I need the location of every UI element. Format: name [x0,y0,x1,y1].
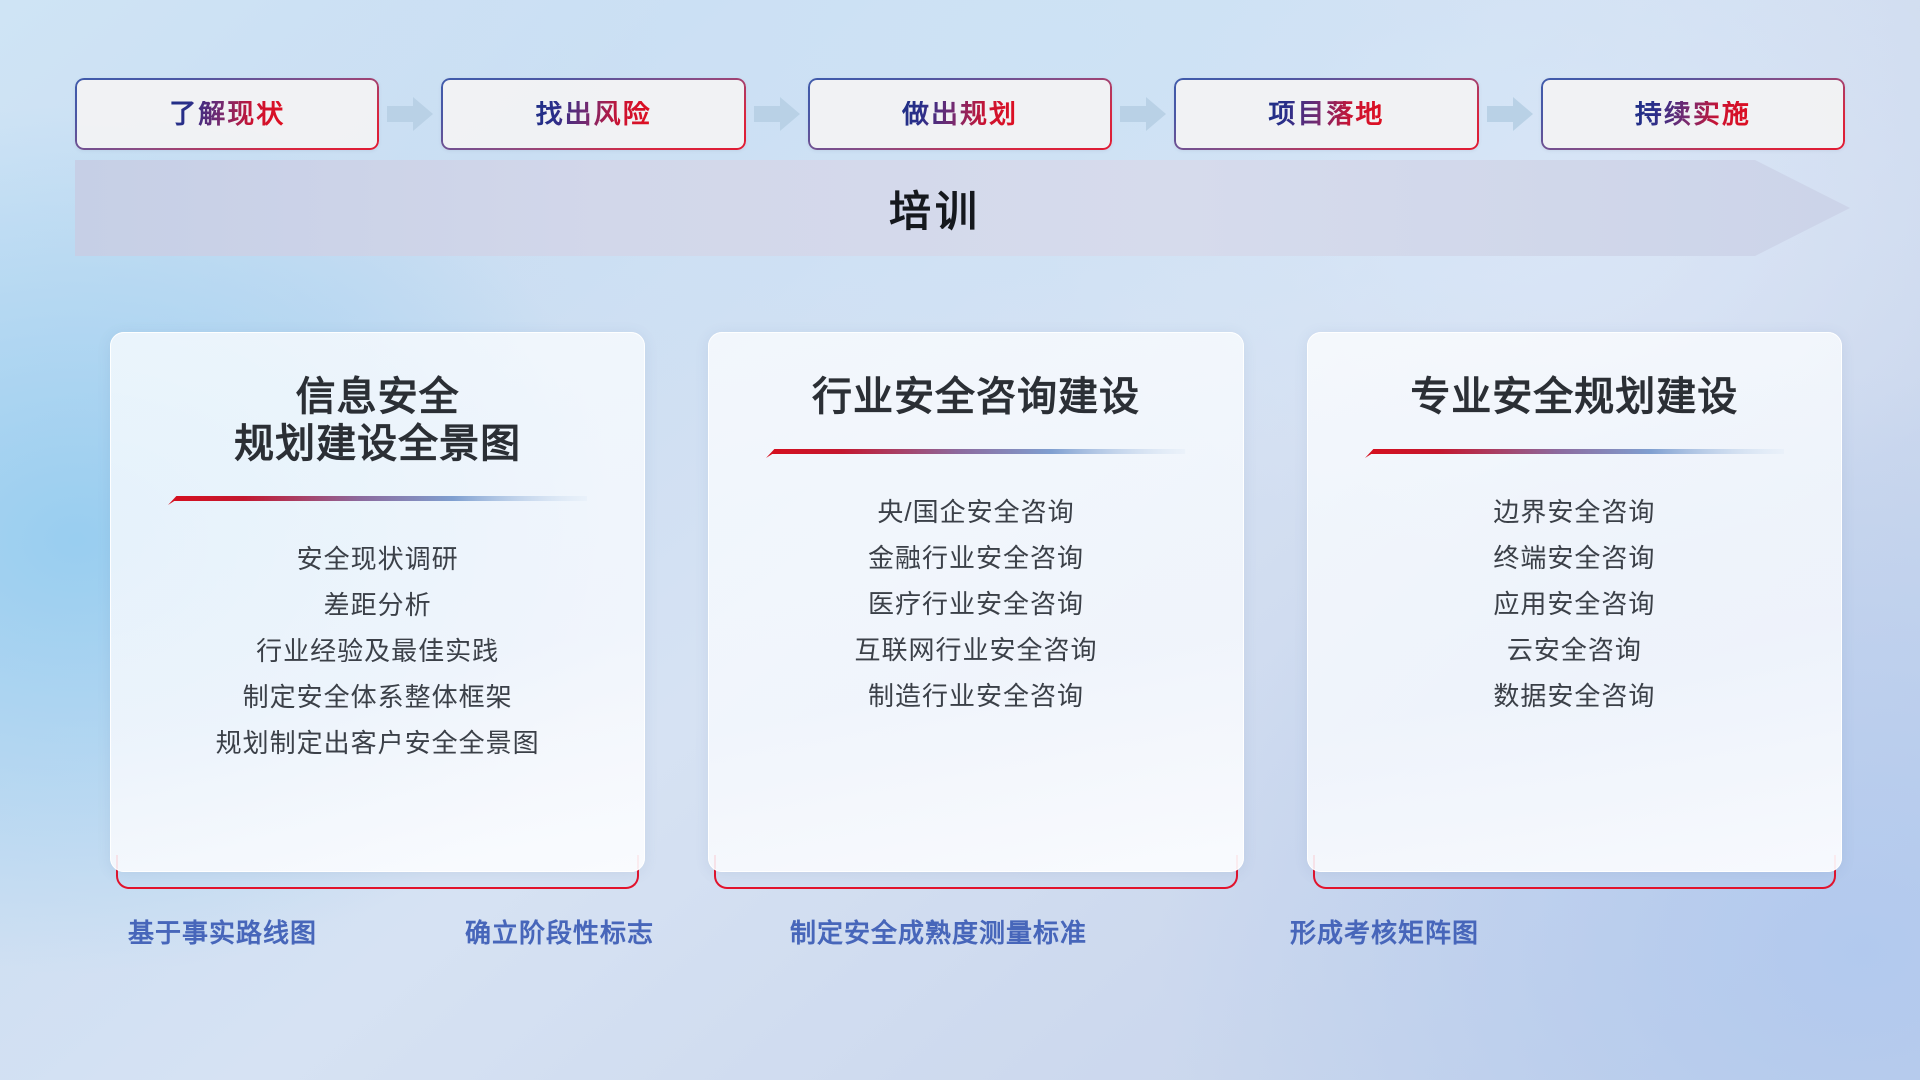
list-item: 规划制定出客户安全全景图 [216,720,540,766]
process-steps: 了解现状 找出风险 做出规划 项目落地 [75,78,1845,150]
list-item: 差距分析 [216,582,540,628]
training-banner: 培训 [75,160,1850,256]
list-item: 边界安全咨询 [1493,489,1655,535]
card-group: 信息安全 规划建设全景图 安全现状调研 差距分析 行业经验及最佳实践 [110,332,1842,872]
step-box-5[interactable]: 持续实施 [1541,78,1845,150]
list-item: 制定安全体系整体框架 [216,674,540,720]
gradient-rule-icon [168,494,587,506]
list-item: 金融行业安全咨询 [854,535,1097,581]
gradient-rule-icon [1365,447,1784,459]
arrow-right-icon-4 [1479,91,1541,137]
list-item: 制造行业安全咨询 [854,673,1097,719]
card-red-foot [714,855,1237,889]
card-item-list: 央/国企安全咨询 金融行业安全咨询 医疗行业安全咨询 互联网行业安全咨询 制造行… [854,489,1097,719]
list-item: 云安全咨询 [1493,627,1655,673]
banner-title: 培训 [75,160,1850,256]
gradient-rule-icon [766,447,1185,459]
slide-canvas: 了解现状 找出风险 做出规划 项目落地 [0,0,1920,1080]
footer-note-2: 确立阶段性标志 [465,920,654,946]
card-red-foot [1313,855,1836,889]
step-box-4[interactable]: 项目落地 [1174,78,1478,150]
card-item-list: 边界安全咨询 终端安全咨询 应用安全咨询 云安全咨询 数据安全咨询 [1493,489,1655,719]
list-item: 互联网行业安全咨询 [854,627,1097,673]
list-item: 央/国企安全咨询 [854,489,1097,535]
arrow-right-icon-3 [1112,91,1174,137]
card-title: 行业安全咨询建设 [812,374,1140,421]
step-box-1[interactable]: 了解现状 [75,78,379,150]
card-title: 信息安全 规划建设全景图 [234,374,521,468]
step-label: 了解现状 [169,101,285,128]
footer-notes: 基于事实路线图 确立阶段性标志 制定安全成熟度测量标准 形成考核矩阵图 [0,920,1920,970]
arrow-right-icon-2 [746,91,808,137]
step-label: 找出风险 [536,101,652,128]
step-box-3[interactable]: 做出规划 [808,78,1112,150]
step-label: 做出规划 [902,101,1018,128]
step-label: 项目落地 [1268,101,1384,128]
footer-note-4: 形成考核矩阵图 [1290,920,1479,946]
card-item-list: 安全现状调研 差距分析 行业经验及最佳实践 制定安全体系整体框架 规划制定出客户… [216,536,540,766]
step-box-2[interactable]: 找出风险 [441,78,745,150]
list-item: 数据安全咨询 [1493,673,1655,719]
footer-note-3: 制定安全成熟度测量标准 [790,920,1087,946]
list-item: 应用安全咨询 [1493,581,1655,627]
step-label: 持续实施 [1635,101,1751,128]
card-3[interactable]: 专业安全规划建设 边界安全咨询 终端安全咨询 应用安全咨询 云安全 [1307,332,1842,872]
list-item: 行业经验及最佳实践 [216,628,540,674]
footer-note-1: 基于事实路线图 [128,920,317,946]
list-item: 终端安全咨询 [1493,535,1655,581]
card-title: 专业安全规划建设 [1410,374,1738,421]
card-red-foot [116,855,639,889]
arrow-right-icon-1 [379,91,441,137]
list-item: 安全现状调研 [216,536,540,582]
list-item: 医疗行业安全咨询 [854,581,1097,627]
card-2[interactable]: 行业安全咨询建设 央/国企安全咨询 金融行业安全咨询 医疗行业安全咨询 [708,332,1243,872]
card-1[interactable]: 信息安全 规划建设全景图 安全现状调研 差距分析 行业经验及最佳实践 [110,332,645,872]
